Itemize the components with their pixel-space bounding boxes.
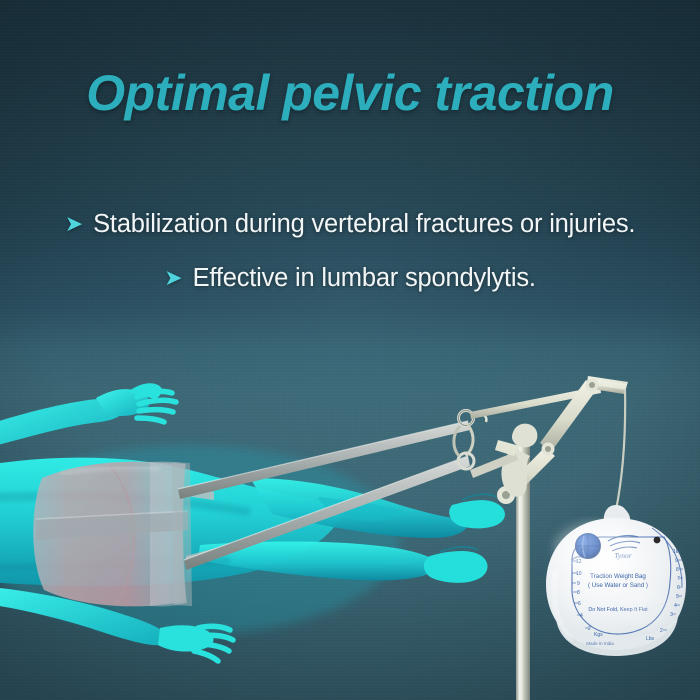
bag-title-line2: ( Use Water or Sand ) bbox=[588, 582, 648, 589]
svg-text:2: 2 bbox=[588, 626, 591, 632]
svg-text:7: 7 bbox=[677, 576, 680, 582]
svg-text:9: 9 bbox=[577, 581, 580, 587]
list-item: ➤ Stabilization during vertebral fractur… bbox=[0, 210, 700, 238]
strap-connector-rings bbox=[454, 411, 487, 470]
svg-text:4: 4 bbox=[674, 603, 677, 609]
feature-bullet-list: ➤ Stabilization during vertebral fractur… bbox=[0, 210, 700, 318]
bag-origin-text: Made in India bbox=[586, 641, 614, 646]
svg-text:8: 8 bbox=[676, 567, 679, 573]
bullet-text: Stabilization during vertebral fractures… bbox=[93, 210, 635, 238]
svg-text:5: 5 bbox=[676, 594, 679, 600]
page-title: Optimal pelvic traction bbox=[0, 64, 700, 122]
arrow-bullet-icon: ➤ bbox=[164, 267, 182, 289]
bag-title-line1: Traction Weight Bag bbox=[590, 573, 646, 580]
arrow-bullet-icon: ➤ bbox=[65, 213, 83, 235]
svg-text:4: 4 bbox=[580, 613, 583, 619]
svg-text:6: 6 bbox=[578, 601, 581, 607]
traction-weight-bag: Tynor Traction Weight Bag ( Use Water or… bbox=[546, 505, 686, 656]
list-item: ➤ Effective in lumbar spondylytis. bbox=[0, 264, 700, 292]
svg-text:6: 6 bbox=[677, 585, 680, 591]
svg-text:8: 8 bbox=[577, 590, 580, 596]
svg-text:2: 2 bbox=[660, 628, 663, 634]
svg-text:10: 10 bbox=[673, 549, 679, 555]
pelvic-traction-belt bbox=[33, 462, 217, 607]
svg-text:Kgs: Kgs bbox=[594, 632, 603, 638]
promo-banner: Tynor Traction Weight Bag ( Use Water or… bbox=[0, 0, 700, 700]
svg-text:Lbs: Lbs bbox=[646, 636, 655, 642]
bullet-text: Effective in lumbar spondylytis. bbox=[193, 264, 536, 292]
svg-text:9: 9 bbox=[675, 558, 678, 564]
